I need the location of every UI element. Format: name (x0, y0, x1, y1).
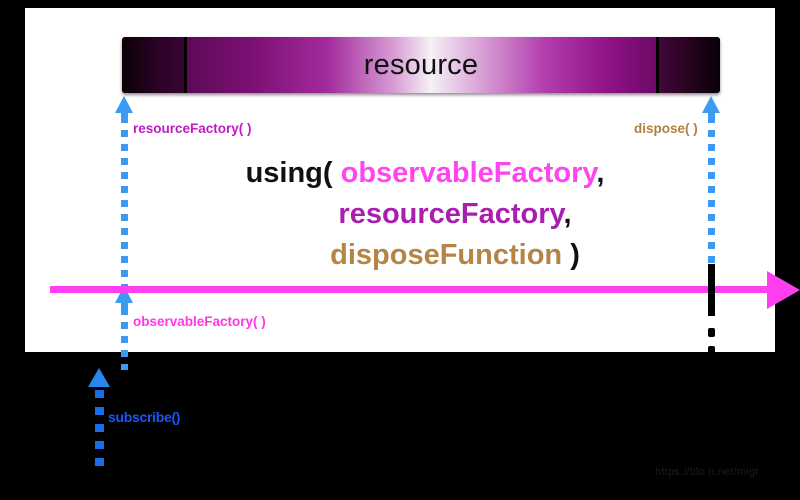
subscribe-dotted-line-upper (121, 308, 128, 370)
code-token-using: using( (246, 157, 333, 189)
resource-bar-label: resource (122, 37, 720, 93)
code-token-comma-1: , (596, 157, 604, 189)
completion-tick-marker (708, 264, 715, 316)
dispose-dotted-line (708, 116, 715, 276)
subscribe-dotted-line-lower (95, 390, 104, 474)
code-line-2: resourceFactory, (165, 194, 685, 235)
code-token-observable-factory: observableFactory (341, 157, 597, 189)
label-dispose: dispose( ) (634, 121, 698, 136)
code-token-comma-2: , (564, 198, 572, 230)
dispose-arrow-stem (708, 108, 715, 121)
code-token-dispose-function: disposeFunction (330, 239, 562, 271)
resource-factory-arrow-stem (121, 108, 128, 121)
code-token-resource-factory: resourceFactory (338, 198, 563, 230)
resource-factory-dotted-line (121, 116, 128, 294)
observable-timeline (50, 286, 778, 293)
using-code-expression: using( observableFactory, resourceFactor… (165, 153, 685, 276)
timeline-arrowhead-icon (767, 271, 800, 309)
subscribe-arrow-icon (88, 368, 110, 387)
label-observable-factory: observableFactory( ) (133, 314, 266, 329)
label-subscribe: subscribe() (108, 409, 180, 425)
completion-dot-1 (708, 328, 715, 337)
marble-diagram-panel: resource resourceFactory( ) observableFa… (25, 8, 775, 352)
code-token-close-paren: ) (570, 239, 580, 271)
diagram-canvas: resource resourceFactory( ) observableFa… (0, 0, 800, 500)
completion-dot-2 (708, 346, 715, 355)
watermark-text: https://blo n.net/migr (655, 466, 759, 478)
code-line-3: disposeFunction ) (165, 235, 685, 276)
code-line-1: using( observableFactory, (165, 153, 685, 194)
label-resource-factory: resourceFactory( ) (133, 121, 252, 136)
resource-lifetime-bar: resource (122, 37, 720, 93)
